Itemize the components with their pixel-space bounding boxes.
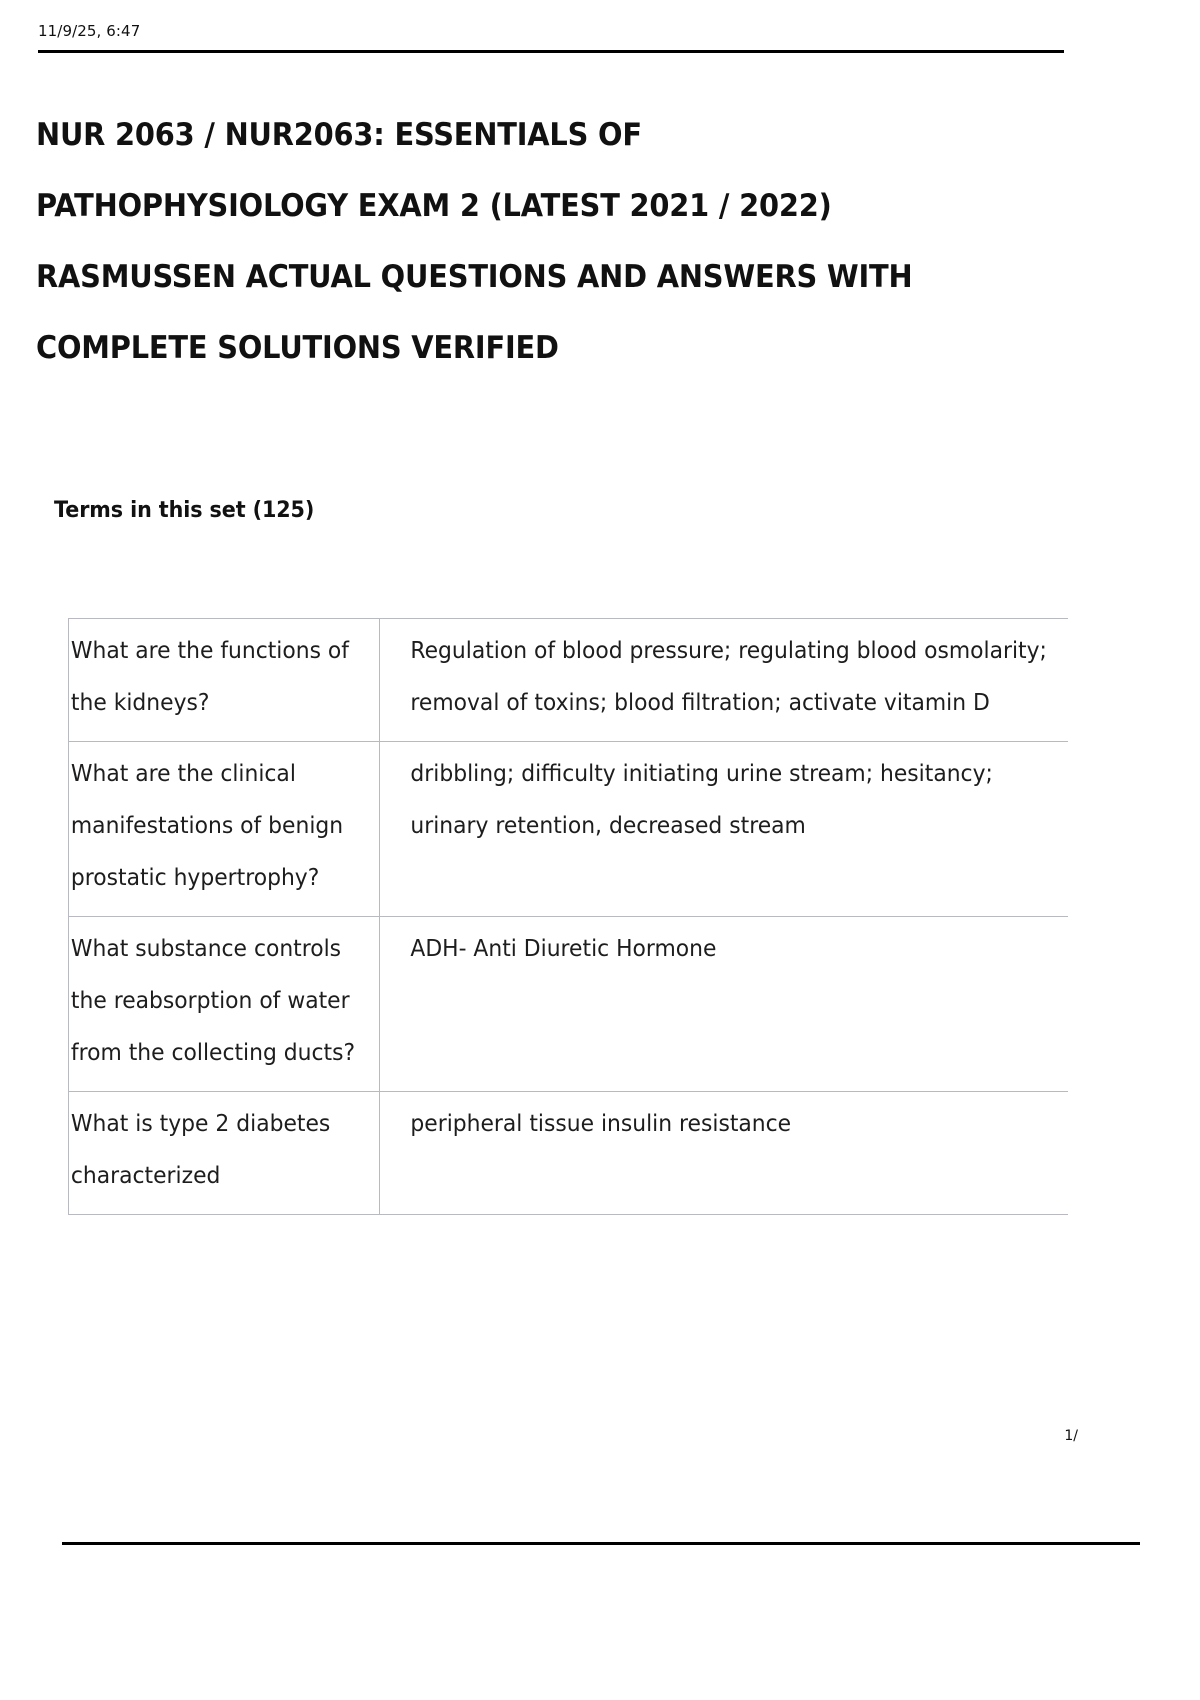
term-text: What are the functions of the kidneys?: [69, 619, 383, 741]
definition-text: dribbling; difficulty initiating urine s…: [380, 742, 1068, 864]
terms-table-container: What are the functions of the kidneys? R…: [68, 618, 1068, 1400]
term-cell: What are the functions of the kidneys?: [69, 619, 380, 742]
terms-count-heading: Terms in this set (125): [54, 498, 314, 523]
header-divider: [38, 50, 1064, 53]
definition-cell: dribbling; difficulty initiating urine s…: [380, 742, 1069, 917]
term-cell: What is type 2 diabetes characterized: [69, 1092, 380, 1215]
definition-text: ADH- Anti Diuretic Hormone: [380, 917, 1068, 987]
term-text: What is type 2 diabetes characterized: [69, 1092, 383, 1214]
table-row: What substance controls the reabsorption…: [69, 917, 1069, 1092]
definition-cell: peripheral tissue insulin resistance: [380, 1092, 1069, 1215]
definition-text: Regulation of blood pressure; regulating…: [380, 619, 1068, 741]
definition-text: peripheral tissue insulin resistance: [380, 1092, 1068, 1162]
table-row: What is type 2 diabetes characterized pe…: [69, 1092, 1069, 1215]
page-title-line-1: NUR 2063 / NUR2063: ESSENTIALS OF: [36, 100, 994, 171]
page-number: 1/: [1064, 1428, 1078, 1444]
definition-cell: Regulation of blood pressure; regulating…: [380, 619, 1069, 742]
document-page: 11/9/25, 6:47 ... NUR 2063 / NUR2063: ES…: [0, 0, 1200, 1700]
page-title-line-3: RASMUSSEN ACTUAL QUESTIONS AND ANSWERS W…: [36, 242, 994, 313]
header-timestamp: 11/9/25, 6:47: [38, 22, 140, 40]
term-cell: What are the clinical manifestations of …: [69, 742, 380, 917]
page-title-line-4: COMPLETE SOLUTIONS VERIFIED: [36, 313, 994, 384]
term-text: What are the clinical manifestations of …: [69, 742, 383, 916]
terms-table: What are the functions of the kidneys? R…: [68, 618, 1068, 1215]
footer-divider: [62, 1542, 1140, 1545]
table-row: What are the functions of the kidneys? R…: [69, 619, 1069, 742]
page-title-line-2: PATHOPHYSIOLOGY EXAM 2 (LATEST 2021 / 20…: [36, 171, 994, 242]
running-header: 11/9/25, 6:47 ...: [0, 0, 1200, 56]
page-title: NUR 2063 / NUR2063: ESSENTIALS OF PATHOP…: [36, 100, 994, 384]
term-text: What substance controls the reabsorption…: [69, 917, 383, 1091]
term-cell: What substance controls the reabsorption…: [69, 917, 380, 1092]
table-row: What are the clinical manifestations of …: [69, 742, 1069, 917]
definition-cell: ADH- Anti Diuretic Hormone: [380, 917, 1069, 1092]
